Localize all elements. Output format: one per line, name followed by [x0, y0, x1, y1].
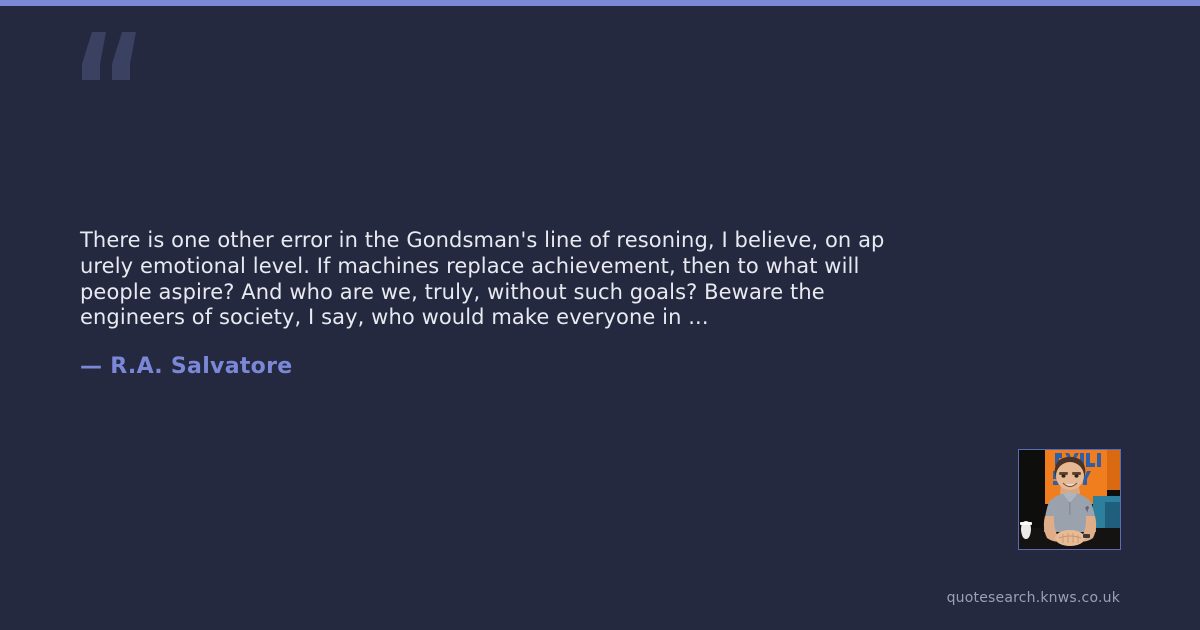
top-accent-bar [0, 0, 1200, 6]
quote-attribution: — R.A. Salvatore [80, 354, 292, 379]
author-photo [1019, 450, 1120, 549]
quote-text: There is one other error in the Gondsman… [80, 228, 980, 331]
site-url: quotesearch.knws.co.uk [947, 590, 1120, 606]
quote-card: There is one other error in the Gondsman… [0, 0, 1200, 630]
double-open-quote-icon [80, 30, 144, 86]
